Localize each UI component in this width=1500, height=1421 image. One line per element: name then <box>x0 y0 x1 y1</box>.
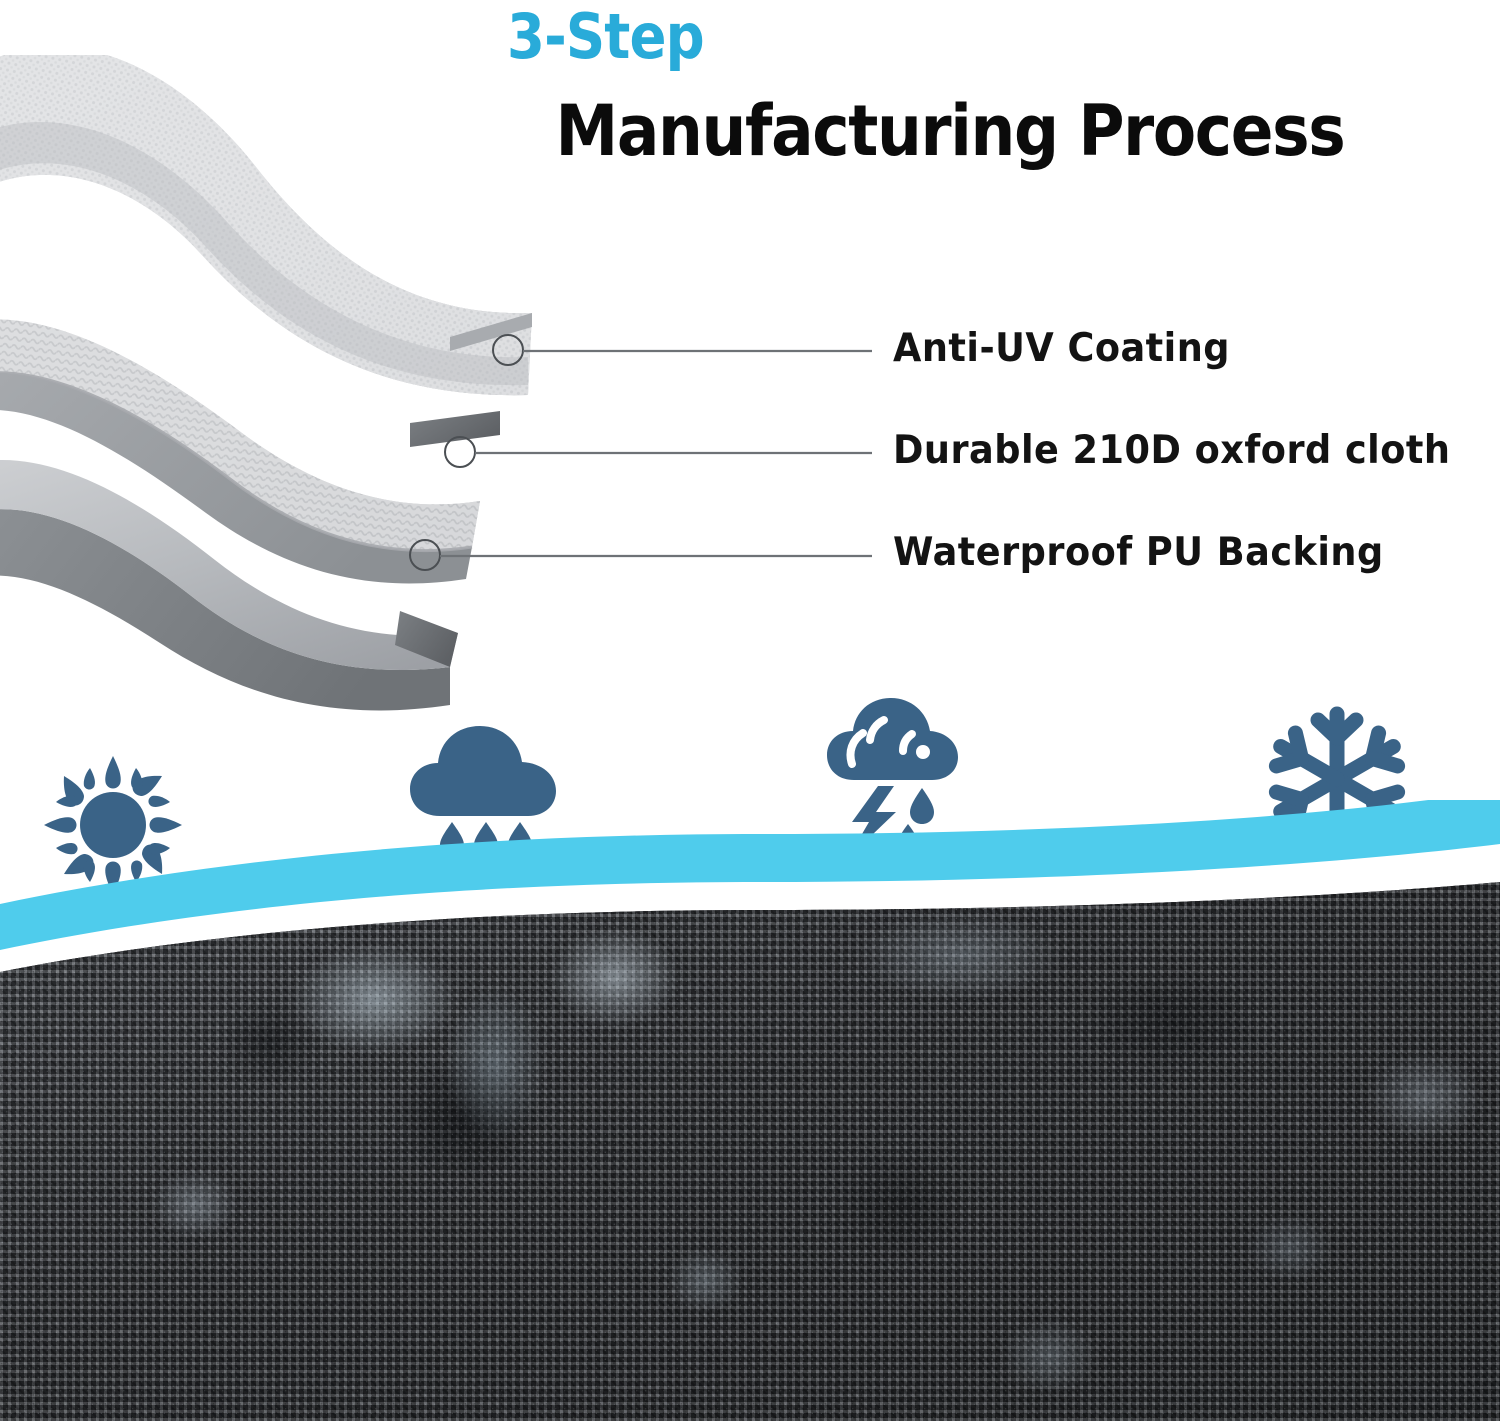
fabric-layers-illustration <box>0 55 580 715</box>
headline-block: 3-Step Manufacturing Process <box>500 0 1400 166</box>
fabric-weave-grain <box>0 880 1500 1421</box>
callout-label-anti-uv-coating: Anti-UV Coating <box>893 326 1230 371</box>
kicker-text: 3-Step <box>500 6 1292 68</box>
waterproof-fabric-beading-photo <box>0 880 1500 1421</box>
page-title: Manufacturing Process <box>545 96 1355 166</box>
callout-label-pu-backing: Waterproof PU Backing <box>893 530 1384 575</box>
infographic-canvas: 3-Step Manufacturing Process <box>0 0 1500 1421</box>
callout-label-oxford-cloth: Durable 210D oxford cloth <box>893 428 1450 473</box>
